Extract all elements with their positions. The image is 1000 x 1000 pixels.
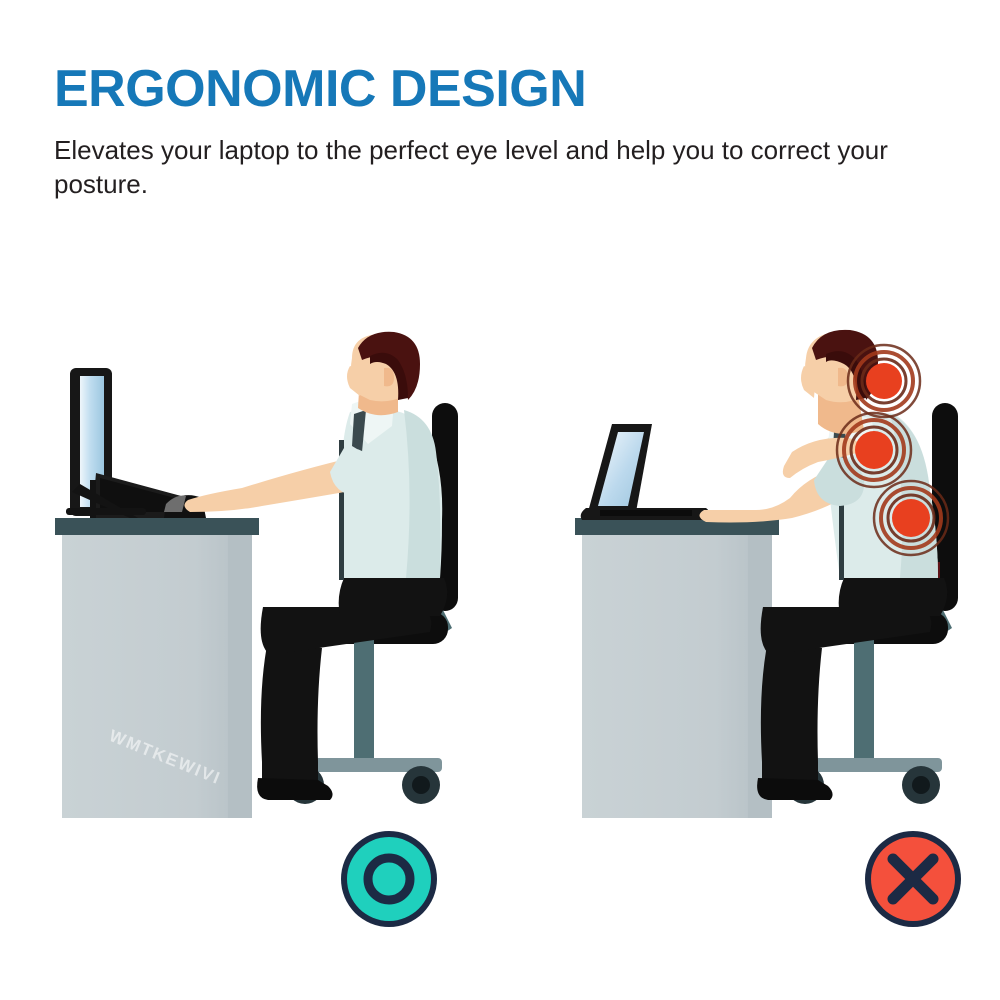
laptop-flat-right <box>581 424 710 520</box>
illustration-stage: WMTKEWIVI <box>0 0 1000 1000</box>
desk-top <box>55 518 259 535</box>
leg-lower <box>761 640 822 790</box>
chair-post <box>854 640 874 762</box>
pain-core <box>892 499 930 537</box>
laptop-keyboard <box>600 510 692 516</box>
desk-left <box>55 518 259 818</box>
desk-body <box>62 518 252 818</box>
panel-incorrect-posture <box>575 330 958 818</box>
chair-post <box>354 640 374 762</box>
badge-incorrect[interactable] <box>865 831 961 927</box>
hips <box>339 578 448 616</box>
badge-correct[interactable] <box>341 831 437 927</box>
laptop-stand-strut <box>90 480 96 518</box>
desk-body-side <box>228 518 252 818</box>
badge-fill <box>347 837 431 921</box>
chair-caster-hub <box>412 776 430 794</box>
pain-core <box>855 431 893 469</box>
desk-right <box>575 518 779 818</box>
laptop-stand-foot <box>66 508 146 515</box>
chair-caster-hub <box>912 776 930 794</box>
jaw <box>347 366 362 396</box>
laptop-on-stand-left <box>66 368 196 518</box>
ergonomic-design-infographic: ERGONOMIC DESIGN Elevates your laptop to… <box>0 0 1000 1000</box>
pain-core <box>866 363 902 399</box>
scene-svg: WMTKEWIVI <box>0 0 1000 1000</box>
desk-body <box>582 518 772 818</box>
hips <box>839 578 948 616</box>
leg-lower <box>261 640 322 790</box>
arm-forearm <box>184 458 356 512</box>
panel-correct-posture: WMTKEWIVI <box>55 332 458 818</box>
